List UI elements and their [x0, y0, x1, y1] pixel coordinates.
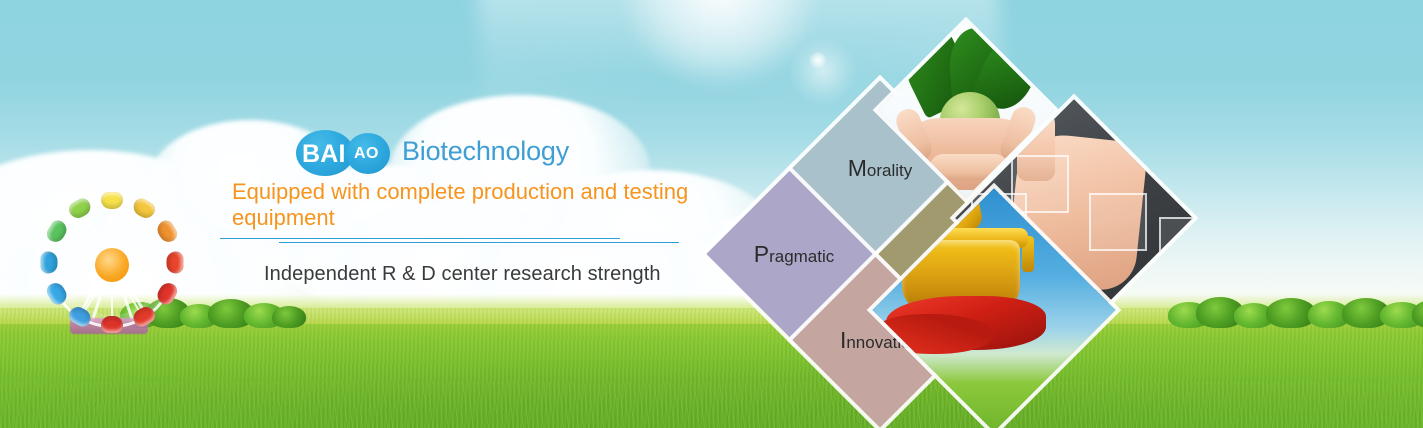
logo-wordmark: Biotechnology [402, 136, 569, 167]
ferris-wheel-icon [40, 196, 200, 346]
logo-circles-icon: BAI AO [296, 130, 404, 176]
brand-logo[interactable]: BAI AO Biotechnology [232, 128, 732, 176]
divider-line-upper [220, 238, 620, 239]
divider-group [232, 235, 732, 249]
logo-text-primary: BAI [302, 140, 346, 169]
value-diamond-grid: Pragmatic Morality Innovation Honesty [718, 48, 1218, 408]
diamond-morality-rest: orality [867, 161, 912, 180]
ui-square-far [1159, 217, 1193, 269]
headline-block: BAI AO Biotechnology Equipped with compl… [232, 128, 732, 286]
diamond-morality-label: Morality [848, 155, 913, 182]
hero-banner: BAI AO Biotechnology Equipped with compl… [0, 0, 1423, 428]
ui-square-center [1011, 155, 1069, 213]
diamond-pragmatic-initial: P [754, 241, 769, 267]
diamond-morality-initial: M [848, 155, 867, 181]
diamond-pragmatic-rest: ragmatic [769, 247, 834, 266]
logo-text-secondary: AO [354, 145, 379, 163]
diamond-pragmatic-label: Pragmatic [754, 241, 835, 268]
ferris-hub [95, 248, 129, 282]
ui-square-right [1089, 193, 1147, 251]
divider-line-lower [279, 242, 679, 243]
banner-tagline: Independent R & D center research streng… [264, 263, 732, 286]
banner-headline: Equipped with complete production and te… [232, 179, 717, 231]
